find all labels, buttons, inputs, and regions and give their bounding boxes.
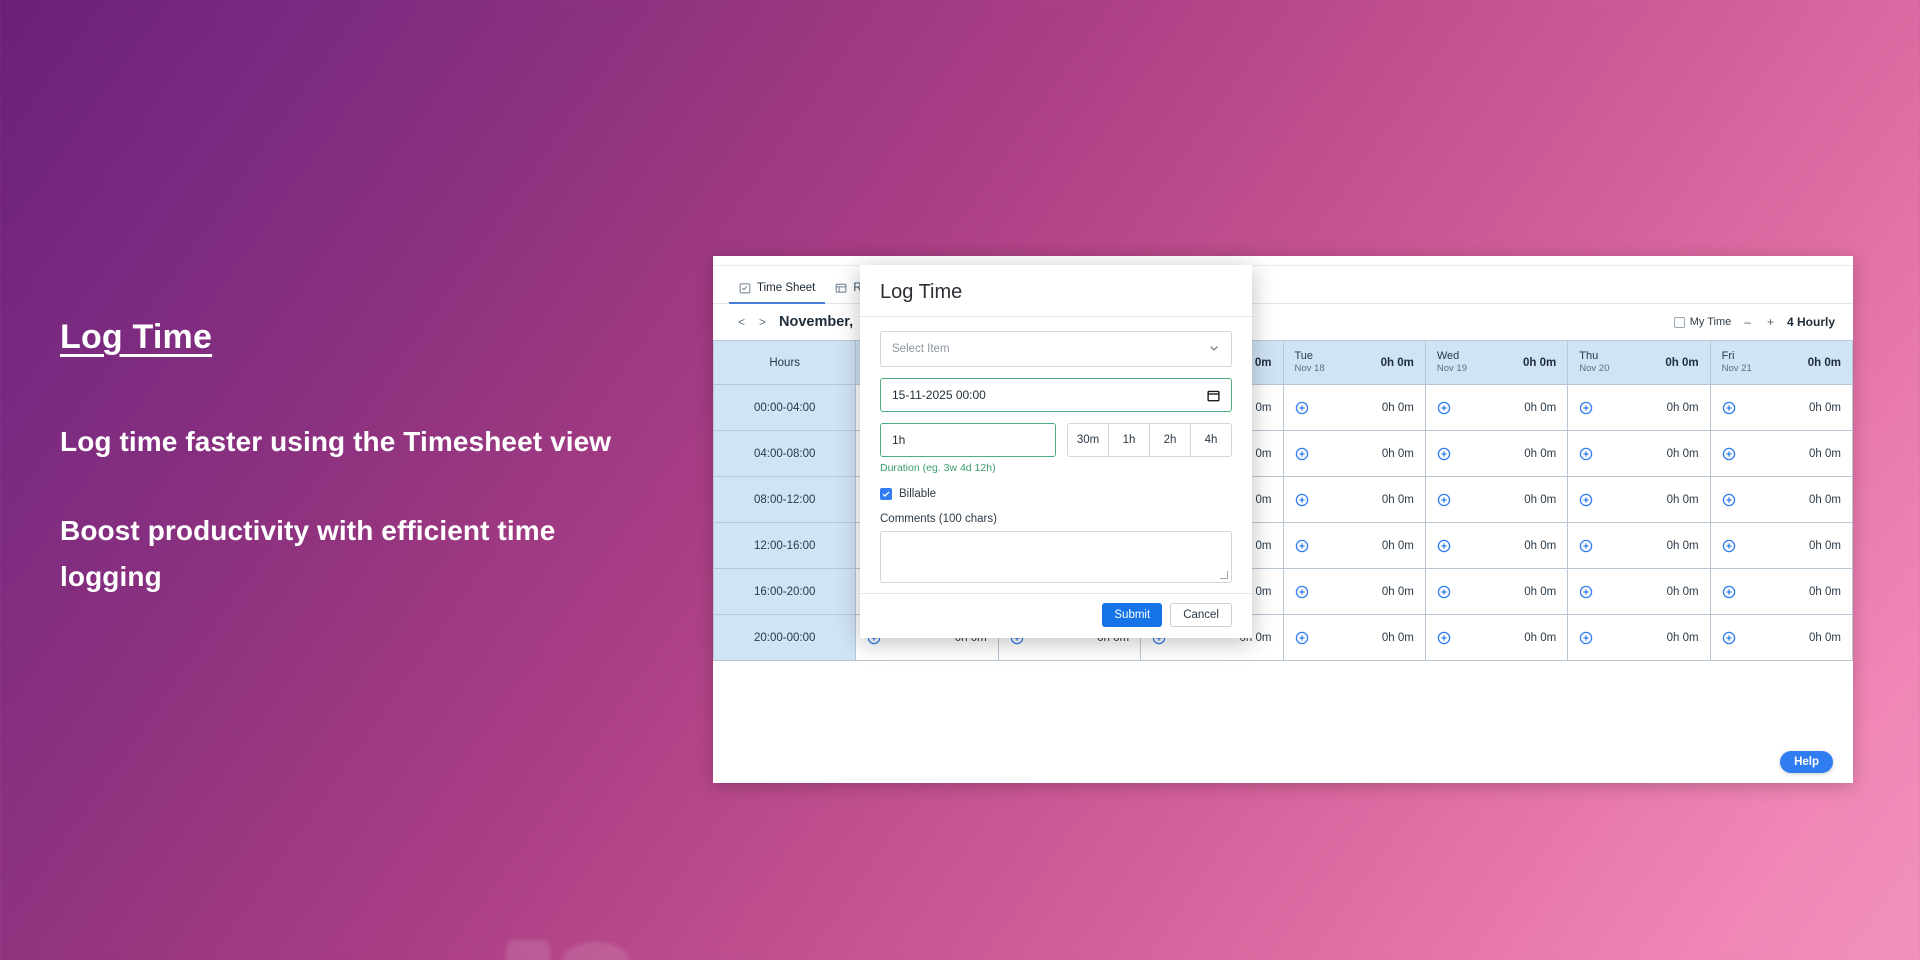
timesheet-icon bbox=[739, 282, 751, 294]
day-total: 0h 0m bbox=[1665, 357, 1698, 369]
duration-value: 1h bbox=[892, 433, 905, 447]
day-column-header[interactable]: WedNov 190h 0m bbox=[1425, 341, 1567, 385]
dialog-title: Log Time bbox=[880, 281, 1232, 304]
day-name: Fri bbox=[1722, 350, 1752, 364]
time-cell-value: 0h 0m bbox=[1382, 632, 1414, 644]
day-name: Thu bbox=[1579, 350, 1609, 364]
duration-hint: Duration (eg. 3w 4d 12h) bbox=[880, 462, 1232, 474]
day-column-header[interactable]: ThuNov 200h 0m bbox=[1568, 341, 1710, 385]
zoom-in-button[interactable]: + bbox=[1764, 315, 1777, 329]
add-time-icon[interactable] bbox=[1437, 539, 1451, 553]
time-cell[interactable]: 0h 0m bbox=[1568, 385, 1710, 431]
datetime-input[interactable]: 15-11-2025 00:00 bbox=[880, 378, 1232, 412]
time-cell[interactable]: 0h 0m bbox=[1710, 615, 1852, 661]
toolbar-right-group: My Time – + 4 Hourly bbox=[1674, 315, 1835, 329]
row-hours-label: 04:00-08:00 bbox=[714, 431, 856, 477]
add-time-icon[interactable] bbox=[1722, 585, 1736, 599]
promo-line-2: Boost productivity with efficient time l… bbox=[60, 508, 620, 599]
time-cell[interactable]: 0h 0m bbox=[1568, 615, 1710, 661]
billable-row[interactable]: Billable bbox=[880, 488, 1232, 500]
add-time-icon[interactable] bbox=[1437, 493, 1451, 507]
add-time-icon[interactable] bbox=[1437, 401, 1451, 415]
duration-preset-30m[interactable]: 30m bbox=[1067, 423, 1109, 457]
my-time-label: My Time bbox=[1690, 316, 1732, 328]
time-cell-value: 0h 0m bbox=[1809, 540, 1841, 552]
add-time-icon[interactable] bbox=[1295, 447, 1309, 461]
item-select[interactable]: Select Item bbox=[880, 331, 1232, 367]
day-date: Nov 20 bbox=[1579, 363, 1609, 375]
add-time-icon[interactable] bbox=[1722, 401, 1736, 415]
day-total: 0h 0m bbox=[1523, 357, 1556, 369]
cancel-button[interactable]: Cancel bbox=[1170, 603, 1232, 627]
chevron-down-icon bbox=[1208, 342, 1220, 357]
add-time-icon[interactable] bbox=[1437, 447, 1451, 461]
time-cell[interactable]: 0h 0m bbox=[1425, 523, 1567, 569]
granularity-label: 4 Hourly bbox=[1787, 315, 1835, 329]
comments-textarea[interactable] bbox=[880, 531, 1232, 583]
duration-input[interactable]: 1h bbox=[880, 423, 1056, 457]
time-cell[interactable]: 0h 0m bbox=[1568, 569, 1710, 615]
day-name: Tue bbox=[1295, 350, 1325, 364]
time-cell[interactable]: 0h 0m bbox=[1283, 523, 1425, 569]
time-cell-value: 0h 0m bbox=[1667, 494, 1699, 506]
row-hours-label: 12:00-16:00 bbox=[714, 523, 856, 569]
day-date: Nov 21 bbox=[1722, 363, 1752, 375]
time-cell-value: 0h 0m bbox=[1524, 540, 1556, 552]
add-time-icon[interactable] bbox=[1295, 401, 1309, 415]
row-hours-label: 00:00-04:00 bbox=[714, 385, 856, 431]
tab-time-sheet[interactable]: Time Sheet bbox=[729, 282, 825, 303]
time-cell[interactable]: 0h 0m bbox=[1283, 477, 1425, 523]
time-cell-value: 0h 0m bbox=[1382, 402, 1414, 414]
time-cell-value: 0h 0m bbox=[1667, 632, 1699, 644]
day-total: 0h 0m bbox=[1381, 357, 1414, 369]
day-column-header[interactable]: TueNov 180h 0m bbox=[1283, 341, 1425, 385]
time-cell[interactable]: 0h 0m bbox=[1283, 385, 1425, 431]
time-cell[interactable]: 0h 0m bbox=[1283, 431, 1425, 477]
add-time-icon[interactable] bbox=[1437, 631, 1451, 645]
zoom-out-button[interactable]: – bbox=[1741, 315, 1754, 329]
time-cell-value: 0h 0m bbox=[1667, 540, 1699, 552]
item-select-placeholder: Select Item bbox=[892, 343, 950, 355]
promo-line-1: Log time faster using the Timesheet view bbox=[60, 419, 620, 464]
time-cell[interactable]: 0h 0m bbox=[1568, 431, 1710, 477]
submit-button[interactable]: Submit bbox=[1102, 603, 1162, 627]
time-cell-value: 0h 0m bbox=[1382, 540, 1414, 552]
add-time-icon[interactable] bbox=[1579, 493, 1593, 507]
decorative-blob-right bbox=[562, 942, 630, 960]
add-time-icon[interactable] bbox=[1722, 493, 1736, 507]
time-cell-value: 0h 0m bbox=[1382, 494, 1414, 506]
time-cell[interactable]: 0h 0m bbox=[1283, 569, 1425, 615]
add-time-icon[interactable] bbox=[1579, 447, 1593, 461]
time-cell[interactable]: 0h 0m bbox=[1710, 385, 1852, 431]
time-cell-value: 0h 0m bbox=[1667, 586, 1699, 598]
time-cell[interactable]: 0h 0m bbox=[1425, 385, 1567, 431]
add-time-icon[interactable] bbox=[1579, 631, 1593, 645]
time-cell-value: 0h 0m bbox=[1382, 448, 1414, 460]
time-cell-value: 0h 0m bbox=[1809, 586, 1841, 598]
comments-label: Comments (100 chars) bbox=[880, 513, 1232, 525]
duration-preset-4h[interactable]: 4h bbox=[1191, 423, 1232, 457]
time-cell[interactable]: 0h 0m bbox=[1710, 431, 1852, 477]
time-cell[interactable]: 0h 0m bbox=[1425, 615, 1567, 661]
duration-row: 1h 30m 1h 2h 4h bbox=[880, 423, 1232, 457]
row-hours-label: 20:00-00:00 bbox=[714, 615, 856, 661]
add-time-icon[interactable] bbox=[1295, 539, 1309, 553]
add-time-icon[interactable] bbox=[1722, 447, 1736, 461]
time-cell[interactable]: 0h 0m bbox=[1568, 523, 1710, 569]
row-hours-label: 16:00-20:00 bbox=[714, 569, 856, 615]
add-time-icon[interactable] bbox=[1722, 631, 1736, 645]
dialog-header: Log Time bbox=[860, 265, 1252, 317]
time-cell-value: 0h 0m bbox=[1809, 494, 1841, 506]
datetime-value: 15-11-2025 00:00 bbox=[892, 388, 986, 402]
promo-panel: Log Time Log time faster using the Times… bbox=[60, 318, 620, 599]
time-cell[interactable]: 0h 0m bbox=[1425, 569, 1567, 615]
time-cell-value: 0h 0m bbox=[1524, 402, 1556, 414]
time-cell[interactable]: 0h 0m bbox=[1710, 523, 1852, 569]
time-cell[interactable]: 0h 0m bbox=[1710, 477, 1852, 523]
calendar-icon[interactable] bbox=[1207, 389, 1220, 402]
day-column-header[interactable]: FriNov 210h 0m bbox=[1710, 341, 1852, 385]
dialog-body: Select Item 15-11-2025 00:00 1h 30m 1h 2… bbox=[860, 317, 1252, 593]
add-time-icon[interactable] bbox=[1295, 631, 1309, 645]
time-cell-value: 0h 0m bbox=[1667, 402, 1699, 414]
duration-preset-group: 30m 1h 2h 4h bbox=[1067, 423, 1232, 457]
time-cell-value: 0h 0m bbox=[1524, 632, 1556, 644]
report-icon bbox=[835, 282, 847, 294]
billable-checkbox[interactable] bbox=[880, 488, 892, 500]
time-cell[interactable]: 0h 0m bbox=[1425, 431, 1567, 477]
day-name: Wed bbox=[1437, 350, 1467, 364]
tab-time-sheet-label: Time Sheet bbox=[757, 282, 815, 294]
time-cell[interactable]: 0h 0m bbox=[1568, 477, 1710, 523]
day-total: 0h 0m bbox=[1808, 357, 1841, 369]
time-cell-value: 0h 0m bbox=[1809, 632, 1841, 644]
time-cell[interactable]: 0h 0m bbox=[1425, 477, 1567, 523]
dialog-footer: Submit Cancel bbox=[860, 593, 1252, 638]
time-cell-value: 0h 0m bbox=[1809, 402, 1841, 414]
time-cell[interactable]: 0h 0m bbox=[1283, 615, 1425, 661]
add-time-icon[interactable] bbox=[1722, 539, 1736, 553]
day-date: Nov 18 bbox=[1295, 363, 1325, 375]
time-cell-value: 0h 0m bbox=[1524, 448, 1556, 460]
add-time-icon[interactable] bbox=[1579, 585, 1593, 599]
add-time-icon[interactable] bbox=[1295, 493, 1309, 507]
my-time-checkbox[interactable] bbox=[1674, 317, 1685, 328]
promo-title: Log Time bbox=[60, 318, 620, 357]
hours-column-header: Hours bbox=[714, 341, 856, 385]
time-cell-value: 0h 0m bbox=[1524, 586, 1556, 598]
duration-preset-2h[interactable]: 2h bbox=[1150, 423, 1191, 457]
my-time-toggle[interactable]: My Time bbox=[1674, 316, 1732, 328]
day-date: Nov 19 bbox=[1437, 363, 1467, 375]
duration-preset-1h[interactable]: 1h bbox=[1109, 423, 1150, 457]
time-cell-value: 0h 0m bbox=[1524, 494, 1556, 506]
time-cell[interactable]: 0h 0m bbox=[1710, 569, 1852, 615]
add-time-icon[interactable] bbox=[1437, 585, 1451, 599]
next-period-button[interactable]: > bbox=[752, 315, 773, 329]
time-cell-value: 0h 0m bbox=[1667, 448, 1699, 460]
billable-label: Billable bbox=[899, 488, 936, 500]
add-time-icon[interactable] bbox=[1579, 539, 1593, 553]
time-cell-value: 0h 0m bbox=[1382, 586, 1414, 598]
decorative-blob-left bbox=[506, 940, 550, 960]
time-cell-value: 0h 0m bbox=[1809, 448, 1841, 460]
current-month-label: November, bbox=[779, 314, 853, 330]
prev-period-button[interactable]: < bbox=[731, 315, 752, 329]
add-time-icon[interactable] bbox=[1579, 401, 1593, 415]
row-hours-label: 08:00-12:00 bbox=[714, 477, 856, 523]
log-time-dialog: Log Time Select Item 15-11-2025 00:00 1h bbox=[860, 265, 1252, 638]
add-time-icon[interactable] bbox=[1295, 585, 1309, 599]
help-button[interactable]: Help bbox=[1780, 751, 1833, 773]
